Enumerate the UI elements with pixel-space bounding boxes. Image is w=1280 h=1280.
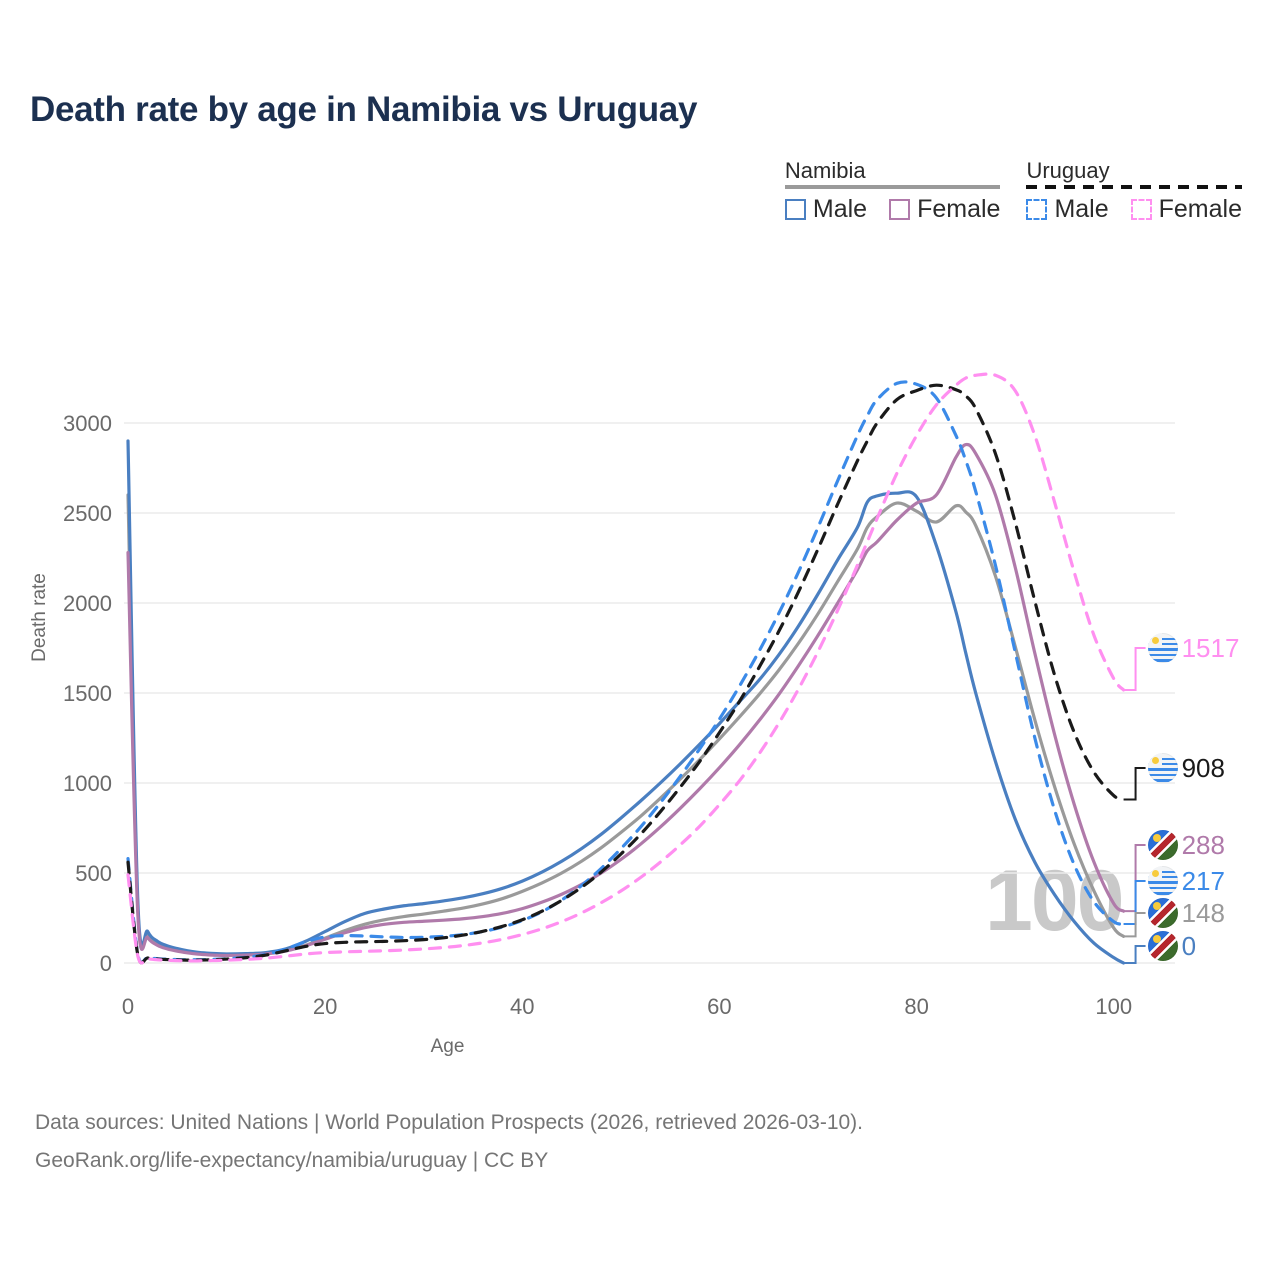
- x-axis-title: Age: [431, 1036, 465, 1057]
- series-line-uruguay-male-black: [128, 385, 1124, 963]
- x-tick-label: 20: [313, 994, 337, 1019]
- y-axis-title: Death rate: [29, 573, 50, 662]
- chart-page: Death rate by age in Namibia vs Uruguay …: [0, 0, 1280, 1280]
- y-tick-label: 3000: [63, 411, 112, 436]
- series-line-uruguay-male: [128, 382, 1124, 963]
- y-tick-label: 2500: [63, 501, 112, 526]
- x-tick-label: 40: [510, 994, 534, 1019]
- end-label-connector: [1124, 946, 1146, 963]
- series-line-namibia-male: [128, 441, 1124, 963]
- x-tick-label: 100: [1095, 994, 1132, 1019]
- line-chart: 050010001500200025003000020406080100AgeD…: [0, 0, 1280, 1280]
- series-line-uruguay-female: [128, 374, 1124, 963]
- y-tick-label: 2000: [63, 591, 112, 616]
- x-tick-label: 60: [707, 994, 731, 1019]
- y-tick-label: 1000: [63, 771, 112, 796]
- x-tick-label: 80: [904, 994, 928, 1019]
- series-line-namibia-female: [128, 495, 1124, 955]
- y-tick-label: 0: [100, 951, 112, 976]
- y-tick-label: 1500: [63, 681, 112, 706]
- end-label-connector: [1124, 648, 1146, 690]
- end-label-connector: [1124, 768, 1146, 800]
- x-tick-label: 0: [122, 994, 134, 1019]
- y-tick-label: 500: [75, 861, 112, 886]
